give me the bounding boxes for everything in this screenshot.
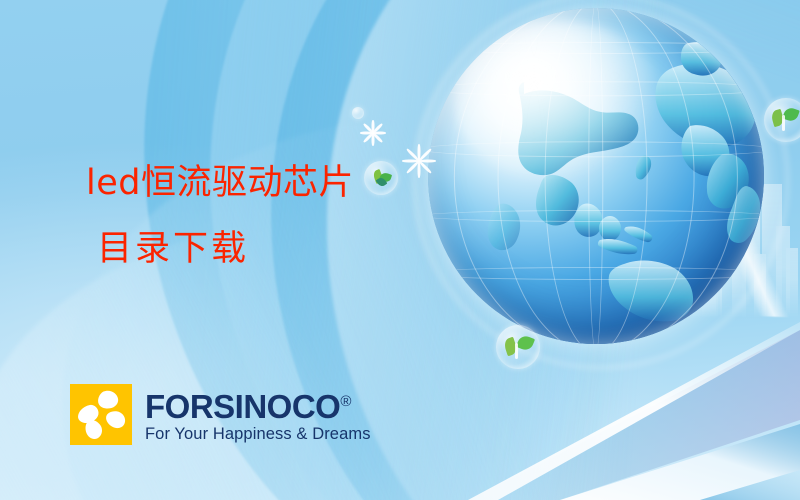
globe-sphere bbox=[428, 8, 764, 344]
headline-line-1: led恒流驱动芯片 bbox=[86, 166, 354, 201]
company-logo: FORSINOCO® For Your Happiness & Dreams bbox=[70, 384, 371, 445]
logo-name-text: FORSINOCO bbox=[145, 388, 340, 425]
registered-mark: ® bbox=[340, 393, 351, 410]
logo-name: FORSINOCO® bbox=[145, 385, 371, 424]
logo-tagline: For Your Happiness & Dreams bbox=[145, 425, 371, 444]
logo-wordmark: FORSINOCO® For Your Happiness & Dreams bbox=[145, 384, 371, 444]
headline: led恒流驱动芯片 目录下载 bbox=[86, 166, 354, 267]
bubble-pinwheel bbox=[364, 161, 398, 195]
bubble-small bbox=[352, 107, 364, 119]
pinwheel-petals bbox=[70, 384, 132, 445]
headline-line-2: 目录下载 bbox=[97, 232, 354, 267]
four-petal-pinwheel-icon bbox=[70, 384, 132, 445]
earth-globe-icon bbox=[428, 8, 764, 344]
bubble-sprout bbox=[496, 325, 540, 369]
bubble-edge bbox=[764, 98, 800, 142]
globe-rim bbox=[428, 8, 764, 344]
promo-banner: led恒流驱动芯片 目录下载 FORSINOCO® For Your Happi… bbox=[0, 0, 800, 500]
